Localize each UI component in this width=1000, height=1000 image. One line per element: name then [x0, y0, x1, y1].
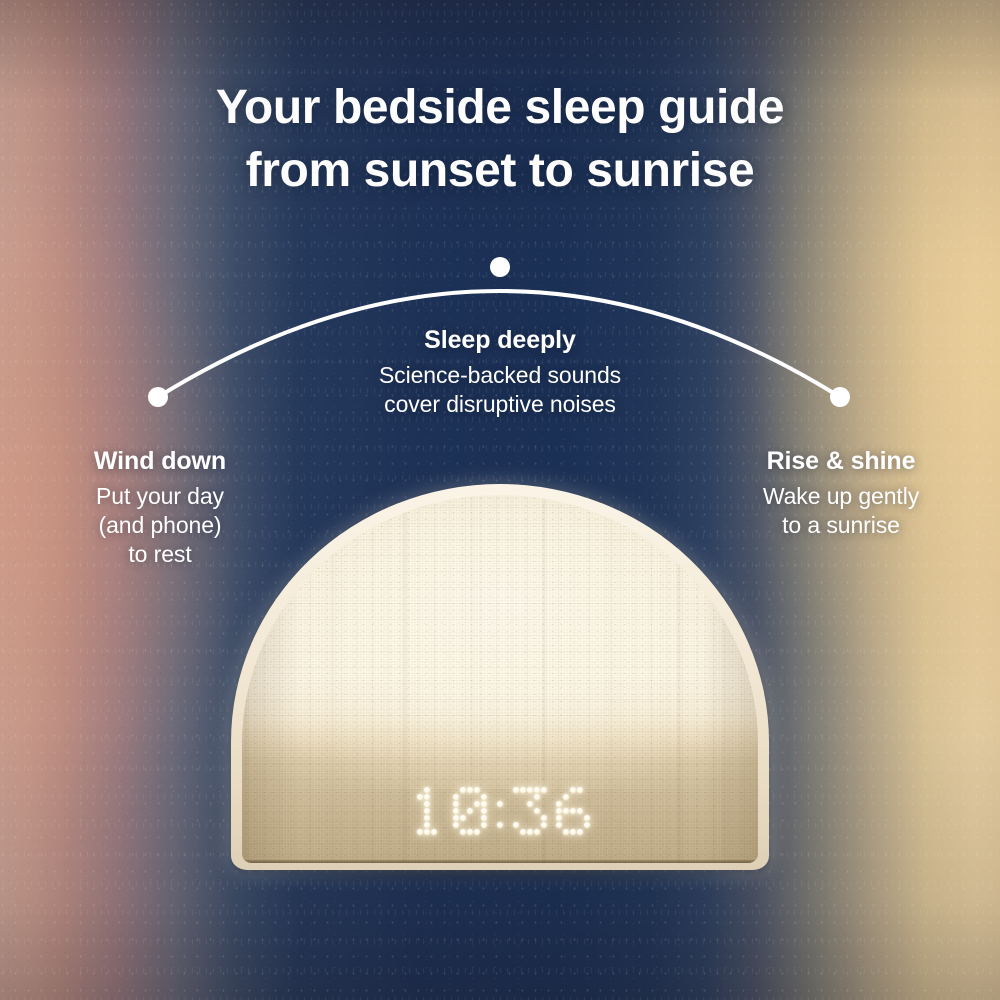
- step-wind-down-desc-line: Put your day: [26, 482, 294, 511]
- step-wind-down-desc-line: to rest: [26, 540, 294, 569]
- arc-dot-rise-shine: [830, 387, 850, 407]
- arc-dot-wind-down: [148, 387, 168, 407]
- promo-graphic: Your bedside sleep guide from sunset to …: [0, 0, 1000, 1000]
- arc-dot-sleep-deeply: [490, 257, 510, 277]
- step-wind-down-desc: Put your day (and phone) to rest: [26, 482, 294, 569]
- headline-line-2: from sunset to sunrise: [0, 139, 1000, 202]
- step-rise-shine: Rise & shine Wake up gently to a sunrise: [706, 446, 976, 540]
- headline-line-1: Your bedside sleep guide: [216, 81, 784, 134]
- step-sleep-deeply-desc: Science-backed sounds cover disruptive n…: [330, 361, 670, 419]
- step-rise-shine-desc-line: Wake up gently: [706, 482, 976, 511]
- step-wind-down-title: Wind down: [26, 446, 294, 476]
- step-sleep-deeply: Sleep deeply Science-backed sounds cover…: [330, 325, 670, 419]
- step-sleep-deeply-desc-line: Science-backed sounds: [330, 361, 670, 390]
- page-title: Your bedside sleep guide from sunset to …: [0, 76, 1000, 202]
- step-sleep-deeply-title: Sleep deeply: [330, 325, 670, 355]
- step-wind-down: Wind down Put your day (and phone) to re…: [26, 446, 294, 569]
- step-rise-shine-desc-line: to a sunrise: [706, 511, 976, 540]
- step-rise-shine-desc: Wake up gently to a sunrise: [706, 482, 976, 540]
- step-rise-shine-title: Rise & shine: [706, 446, 976, 476]
- step-sleep-deeply-desc-line: cover disruptive noises: [330, 390, 670, 419]
- step-wind-down-desc-line: (and phone): [26, 511, 294, 540]
